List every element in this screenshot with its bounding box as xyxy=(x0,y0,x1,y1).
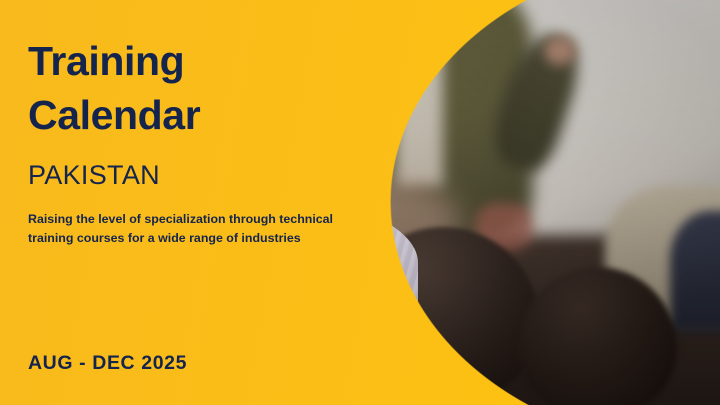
training-calendar-slide: Training Calendar PAKISTAN Raising the l… xyxy=(0,0,720,405)
country-subtitle: PAKISTAN xyxy=(28,160,160,191)
page-title: Training Calendar xyxy=(28,34,200,142)
date-range-label: AUG - DEC 2025 xyxy=(28,352,187,375)
cover-text-block: Training Calendar PAKISTAN Raising the l… xyxy=(28,0,388,405)
tagline-text: Raising the level of specialization thro… xyxy=(28,210,380,248)
